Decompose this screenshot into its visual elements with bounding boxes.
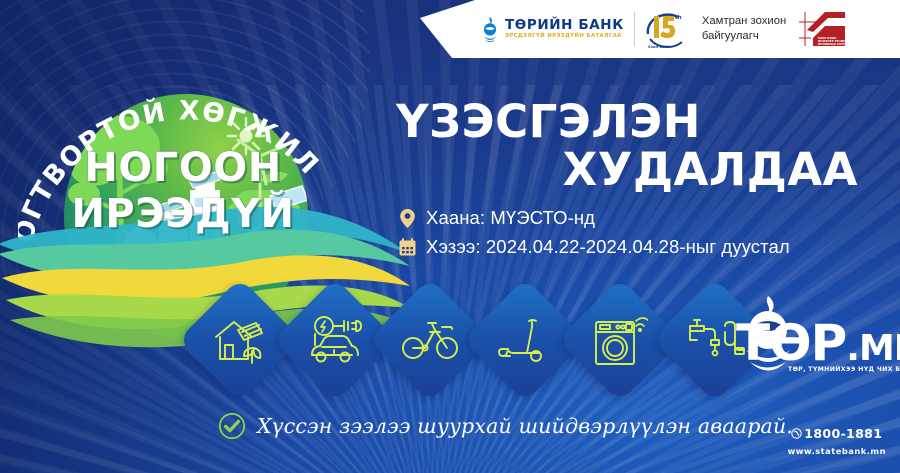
soyombo-flame-icon: [480, 16, 500, 42]
bank-name: ТӨРИЙН БАНК: [505, 19, 624, 33]
header-divider: [634, 12, 635, 46]
footer-slogan: Хүссэн зээлээ шуурхай шийдвэрлүүлэн аваа…: [257, 414, 793, 438]
footer-slogan-row: Хүссэн зээлээ шуурхай шийдвэрлүүлэн аваа…: [218, 412, 793, 440]
event-date-text: Хэзээ: 2024.04.22-2024.04.28-ныг дуустал: [426, 236, 790, 258]
anniversary-15-badge-icon: th Since 2009: [644, 8, 690, 50]
event-date-row: Хэзээ: 2024.04.22-2024.04.28-ныг дуустал: [398, 236, 790, 258]
event-location-text: Хаана: МҮЭСТО-нд: [426, 207, 595, 229]
tor-word: ТӨР: [736, 314, 846, 372]
svg-text:Since 2009: Since 2009: [648, 45, 670, 49]
emblem-line-1: НОГООН: [18, 148, 348, 188]
headline: ҮЗЭСГЭЛЭН ХУДАЛДАА: [396, 100, 866, 192]
tor-suffix: .МН: [846, 328, 900, 369]
contact-website[interactable]: www.statebank.mn: [788, 446, 886, 456]
check-circle-icon: [218, 412, 246, 440]
headline-line-2: ХУДАЛДАА: [396, 148, 866, 192]
calendar-icon: [398, 237, 417, 258]
promo-banner: ТӨРИЙН БАНК ЭРСДЭЛГҮЙ ИРЭЭДҮЙН БАТАЛГАА …: [0, 0, 900, 473]
eco-icons-row: [196, 296, 759, 384]
event-meta: Хаана: МҮЭСТО-нд Хэзээ: 2024.04.22-2024.…: [398, 207, 790, 265]
svg-text:ИННОВАЦИ КОРПОРАЦИ ТББ: ИННОВАЦИ КОРПОРАЦИ ТББ: [818, 42, 849, 46]
header-logos: ТӨРИЙН БАНК ЭРСДЭЛГҮЙ ИРЭЭДҮЙН БАТАЛГАА …: [478, 0, 900, 58]
contact-info: 1800-1881 www.statebank.mn: [788, 426, 886, 459]
headline-line-1: ҮЗЭСГЭЛЭН: [396, 100, 866, 144]
tor-mn-logo[interactable]: ТӨР.МН ТӨР, ТҮМНИЙХЭЭ НҮД ЧИХ БОЛНО: [706, 292, 892, 388]
coorganizer-label: Хамтран зохион байгуулагч: [702, 14, 786, 45]
red-roof-logo-icon[interactable]: МОНГОЛЫН ИНЖЕНЕР ЭРЧИМ ХҮЧНИЙ ИННОВАЦИ К…: [797, 8, 849, 50]
tor-mn-wordmark: ТӨР.МН: [736, 318, 900, 368]
coorganizer-line-1: Хамтран зохион: [702, 15, 786, 27]
emblem-line-2: ИРЭЭДҮЙ: [18, 194, 348, 234]
svg-text:th: th: [675, 15, 682, 21]
location-pin-icon: [398, 208, 417, 229]
phone-icon: [791, 428, 802, 439]
tor-mn-tagline: ТӨР, ТҮМНИЙХЭЭ НҮД ЧИХ БОЛНО: [788, 366, 900, 373]
event-location-row: Хаана: МҮЭСТО-нд: [398, 207, 790, 229]
bank-tagline: ЭРСДЭЛГҮЙ ИРЭЭДҮЙН БАТАЛГАА: [505, 34, 624, 39]
emblem-words: НОГООН ИРЭЭДҮЙ: [18, 148, 348, 234]
contact-phone[interactable]: 1800-1881: [788, 426, 886, 441]
state-bank-logo[interactable]: ТӨРИЙН БАНК ЭРСДЭЛГҮЙ ИРЭЭДҮЙН БАТАЛГАА: [478, 16, 624, 42]
contact-phone-number: 1800-1881: [804, 426, 882, 441]
coorganizer-line-2: байгуулагч: [702, 30, 759, 42]
